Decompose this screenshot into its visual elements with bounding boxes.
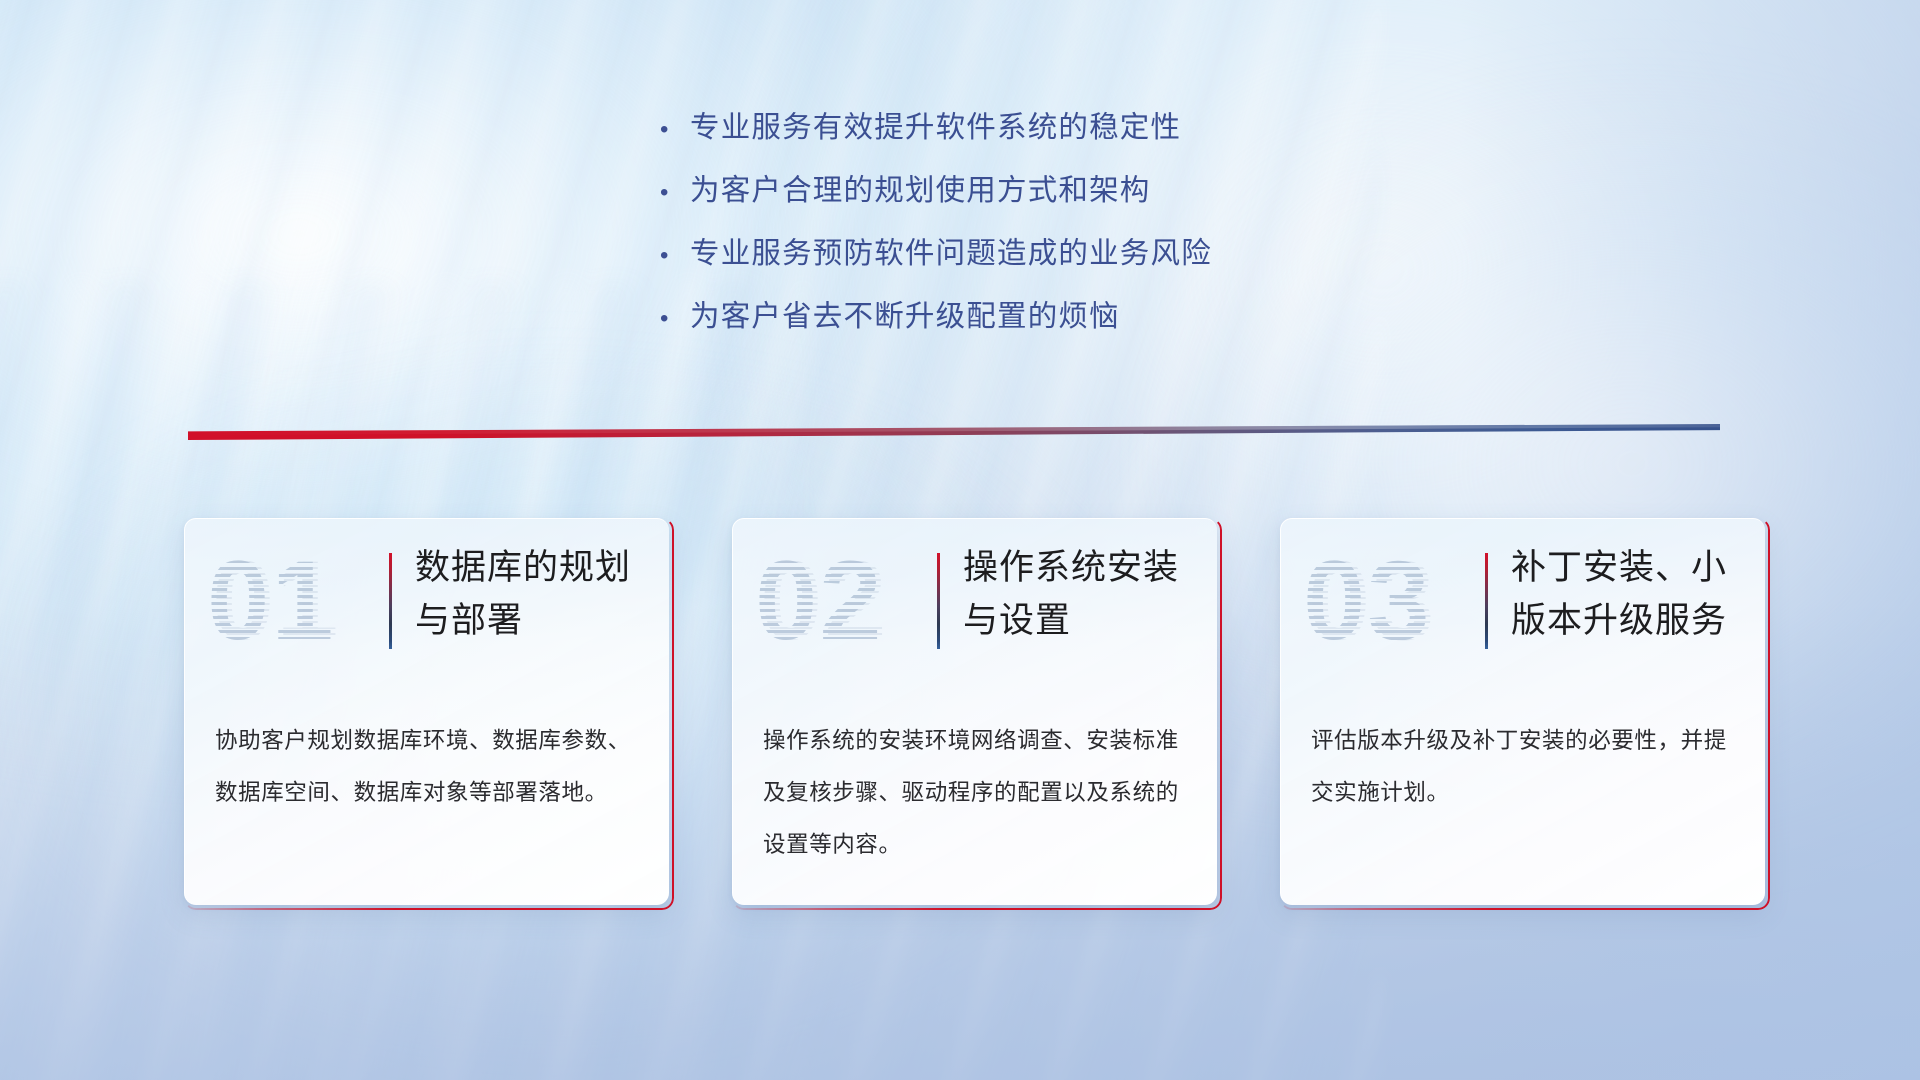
service-card-02[interactable]: 02 02 操作系统安装与设置 操作系统的安装环境网络调查、安装标准及复核步骤、… xyxy=(732,518,1222,910)
bullet-text: 专业服务预防软件问题造成的业务风险 xyxy=(690,230,1212,272)
bullet-item: • 专业服务有效提升软件系统的稳定性 xyxy=(660,104,1420,167)
card-accent-frame xyxy=(184,518,674,910)
divider-bar xyxy=(188,424,1720,440)
section-divider xyxy=(188,424,1720,440)
bullet-item: • 为客户省去不断升级配置的烦恼 xyxy=(660,293,1420,356)
bullet-item: • 专业服务预防软件问题造成的业务风险 xyxy=(660,230,1420,293)
bullet-text: 为客户合理的规划使用方式和架构 xyxy=(690,167,1151,209)
service-card-list: 01 01 数据库的规划与部署 协助客户规划数据库环境、数据库参数、数据库空间、… xyxy=(184,518,1770,910)
service-card-01[interactable]: 01 01 数据库的规划与部署 协助客户规划数据库环境、数据库参数、数据库空间、… xyxy=(184,518,674,910)
bullet-marker-icon: • xyxy=(660,118,690,142)
benefits-bullet-list: • 专业服务有效提升软件系统的稳定性 • 为客户合理的规划使用方式和架构 • 专… xyxy=(660,104,1420,356)
bullet-text: 为客户省去不断升级配置的烦恼 xyxy=(690,293,1120,335)
bullet-marker-icon: • xyxy=(660,244,690,268)
card-accent-frame xyxy=(1280,518,1770,910)
bullet-text: 专业服务有效提升软件系统的稳定性 xyxy=(690,104,1181,146)
bullet-marker-icon: • xyxy=(660,307,690,331)
bullet-item: • 为客户合理的规划使用方式和架构 xyxy=(660,167,1420,230)
card-accent-frame xyxy=(732,518,1222,910)
service-card-03[interactable]: 03 03 补丁安装、小版本升级服务 评估版本升级及补丁安装的必要性，并提交实施… xyxy=(1280,518,1770,910)
bullet-marker-icon: • xyxy=(660,181,690,205)
